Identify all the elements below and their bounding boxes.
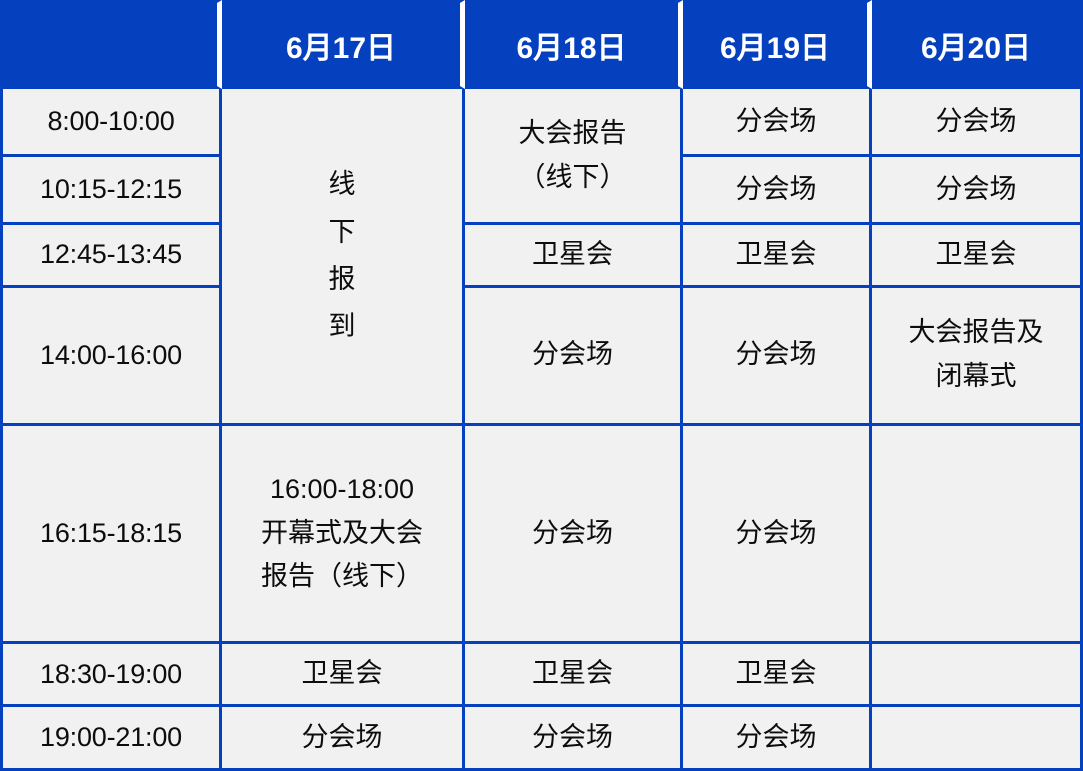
time-slot-0800: 8:00-10:00	[0, 89, 222, 157]
time-slot-1015: 10:15-12:15	[0, 157, 222, 225]
cell-jun17-opening: 16:00-18:00 开幕式及大会 报告（线下）	[222, 426, 465, 645]
cell-jun20-1245: 卫星会	[872, 225, 1083, 288]
cell-jun17-checkin: 线 下 报 到	[222, 89, 465, 425]
cell-jun19-1400: 分会场	[683, 288, 872, 426]
table-row: 18:30-19:00 卫星会 卫星会 卫星会	[0, 644, 1083, 707]
time-slot-1615: 16:15-18:15	[0, 426, 222, 645]
plenary-line-1: 大会报告	[465, 112, 680, 156]
schedule-table: 6月17日 6月18日 6月19日 6月20日 8:00-10:00 线 下 报…	[0, 0, 1083, 771]
cell-jun18-1900: 分会场	[465, 707, 683, 771]
cell-jun20-closing: 大会报告及 闭幕式	[872, 288, 1083, 426]
opening-text: 16:00-18:00 开幕式及大会 报告（线下）	[222, 468, 462, 599]
table-row: 8:00-10:00 线 下 报 到 大会报告 （线下） 分会场	[0, 89, 1083, 157]
time-slot-1830: 18:30-19:00	[0, 644, 222, 707]
cell-jun19-1245: 卫星会	[683, 225, 872, 288]
cell-jun17-1830: 卫星会	[222, 644, 465, 707]
cell-jun19-1830: 卫星会	[683, 644, 872, 707]
checkin-char-1: 线	[222, 161, 462, 208]
cell-jun19-1615: 分会场	[683, 426, 872, 645]
cell-jun18-1830: 卫星会	[465, 644, 683, 707]
table-row: 14:00-16:00 分会场 分会场 大会报告及 闭幕式	[0, 288, 1083, 426]
checkin-vertical-text: 线 下 报 到	[222, 161, 462, 350]
cell-jun19-0800: 分会场	[683, 89, 872, 157]
cell-jun20-1015: 分会场	[872, 157, 1083, 225]
cell-jun18-1400: 分会场	[465, 288, 683, 426]
time-slot-1400: 14:00-16:00	[0, 288, 222, 426]
table-row: 16:15-18:15 16:00-18:00 开幕式及大会 报告（线下） 分会…	[0, 426, 1083, 645]
closing-line-1: 大会报告及	[872, 311, 1080, 355]
cell-jun18-1615: 分会场	[465, 426, 683, 645]
time-slot-1900: 19:00-21:00	[0, 707, 222, 771]
cell-jun20-1615	[872, 426, 1083, 645]
cell-jun18-1245: 卫星会	[465, 225, 683, 288]
header-cell-jun17: 6月17日	[222, 0, 465, 89]
table-row: 19:00-21:00 分会场 分会场 分会场	[0, 707, 1083, 771]
cell-jun20-1830	[872, 644, 1083, 707]
conference-schedule: 6月17日 6月18日 6月19日 6月20日 8:00-10:00 线 下 报…	[0, 0, 1083, 771]
cell-jun17-1900: 分会场	[222, 707, 465, 771]
checkin-char-2: 下	[222, 209, 462, 256]
cell-jun18-plenary: 大会报告 （线下）	[465, 89, 683, 225]
time-slot-1245: 12:45-13:45	[0, 225, 222, 288]
header-cell-jun18: 6月18日	[465, 0, 683, 89]
opening-line-3: 报告（线下）	[222, 555, 462, 599]
table-row: 12:45-13:45 卫星会 卫星会 卫星会	[0, 225, 1083, 288]
plenary-text: 大会报告 （线下）	[465, 112, 680, 199]
closing-text: 大会报告及 闭幕式	[872, 311, 1080, 398]
opening-line-1: 16:00-18:00	[222, 468, 462, 512]
checkin-char-4: 到	[222, 303, 462, 350]
cell-jun19-1900: 分会场	[683, 707, 872, 771]
checkin-char-3: 报	[222, 256, 462, 303]
opening-line-2: 开幕式及大会	[222, 512, 462, 556]
cell-jun19-1015: 分会场	[683, 157, 872, 225]
header-cell-jun19: 6月19日	[683, 0, 872, 89]
cell-jun20-0800: 分会场	[872, 89, 1083, 157]
closing-line-2: 闭幕式	[872, 355, 1080, 399]
table-header-row: 6月17日 6月18日 6月19日 6月20日	[0, 0, 1083, 89]
plenary-line-2: （线下）	[465, 156, 680, 200]
cell-jun20-1900	[872, 707, 1083, 771]
header-cell-time	[0, 0, 222, 89]
header-cell-jun20: 6月20日	[872, 0, 1083, 89]
